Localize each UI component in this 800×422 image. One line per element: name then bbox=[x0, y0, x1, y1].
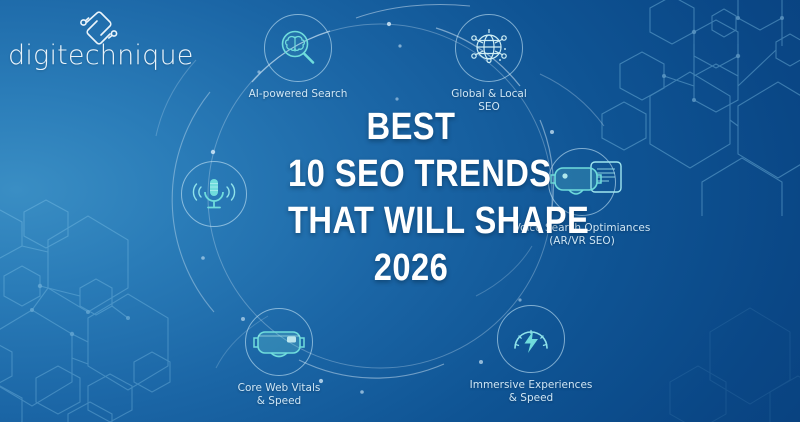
microphone-waves-icon bbox=[181, 161, 247, 227]
node-global-local-seo[interactable]: Global & Local SEO bbox=[455, 14, 523, 82]
headline-line-3: THAT WILL SHAPE bbox=[288, 198, 534, 245]
brain-magnifier-icon bbox=[264, 14, 332, 82]
headline-line-1: BEST bbox=[288, 104, 534, 151]
page-title: BEST 10 SEO TRENDS THAT WILL SHAPE 2026 bbox=[268, 104, 554, 292]
node-label: Core Web Vitals & Speed bbox=[238, 382, 321, 408]
headline-line-4: 2026 bbox=[288, 245, 534, 292]
node-ai-powered-search[interactable]: AI-powered Search bbox=[264, 14, 332, 82]
poster-canvas: digitechnique bbox=[0, 0, 800, 422]
headline-line-2: 10 SEO TRENDS bbox=[288, 151, 534, 198]
globe-network-icon bbox=[455, 14, 523, 82]
speedometer-bolt-icon bbox=[497, 305, 565, 373]
node-immersive-experiences-speed[interactable]: Immersive Experiences & Speed bbox=[497, 305, 565, 373]
vr-goggles-icon bbox=[245, 308, 313, 376]
node-label: AI-powered Search bbox=[249, 88, 348, 101]
node-core-web-vitals-speed[interactable]: Core Web Vitals & Speed bbox=[245, 308, 313, 376]
node-label: Immersive Experiences & Speed bbox=[470, 379, 593, 405]
node-voice-microphone[interactable] bbox=[181, 161, 247, 227]
